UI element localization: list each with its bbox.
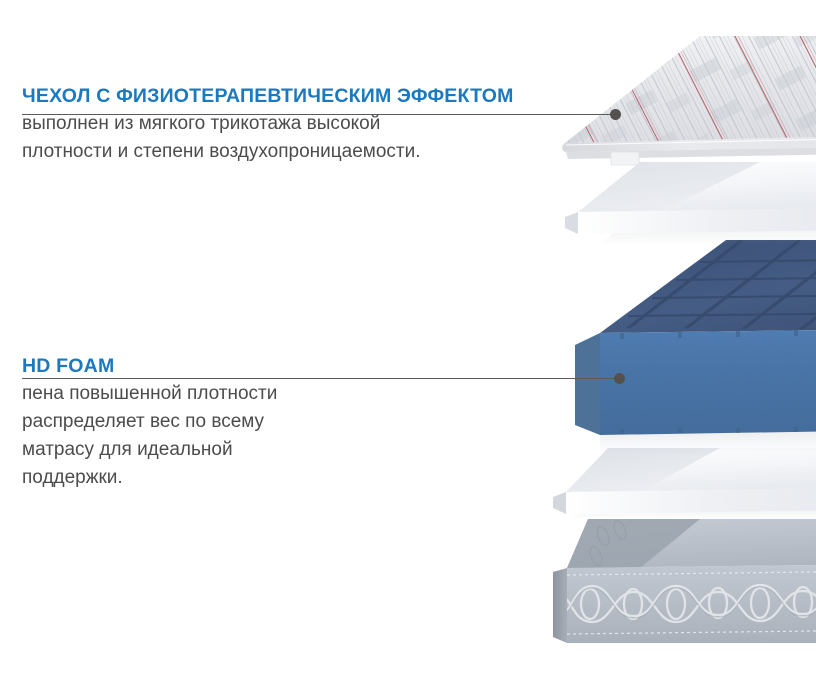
layer-upper-white-foam xyxy=(565,162,816,245)
callout-hd-foam-body-line-2: распределяет вес по всему xyxy=(22,408,352,436)
callout-cover-body-line-2: плотности и степени воздухопроницаемости… xyxy=(22,138,542,166)
layer-lower-white-foam xyxy=(553,448,816,520)
callout-cover: ЧЕХОЛ С ФИЗИОТЕРАПЕВТИЧЕСКИМ ЭФФЕКТОМ вы… xyxy=(22,86,542,166)
callout-cover-body-line-1: выполнен из мягкого трикотажа высокой xyxy=(22,110,542,138)
mattress-layers-infographic: ЧЕХОЛ С ФИЗИОТЕРАПЕВТИЧЕСКИМ ЭФФЕКТОМ вы… xyxy=(0,0,816,700)
callout-hd-foam-title: HD FOAM xyxy=(22,356,352,376)
callout-hd-foam: HD FOAM пена повышенной плотности распре… xyxy=(22,356,352,491)
layer-cover xyxy=(560,30,816,165)
layer-hd-foam xyxy=(567,240,816,454)
leader-dot-hd-foam xyxy=(614,373,625,384)
layer-spring-base xyxy=(553,519,816,643)
callout-hd-foam-body-line-3: матрасу для идеальной xyxy=(22,436,352,464)
callout-hd-foam-body-line-4: поддержки. xyxy=(22,464,352,492)
leader-dot-cover xyxy=(610,109,621,120)
callout-cover-title: ЧЕХОЛ С ФИЗИОТЕРАПЕВТИЧЕСКИМ ЭФФЕКТОМ xyxy=(22,86,542,106)
callout-hd-foam-body-line-1: пена повышенной плотности xyxy=(22,380,352,408)
